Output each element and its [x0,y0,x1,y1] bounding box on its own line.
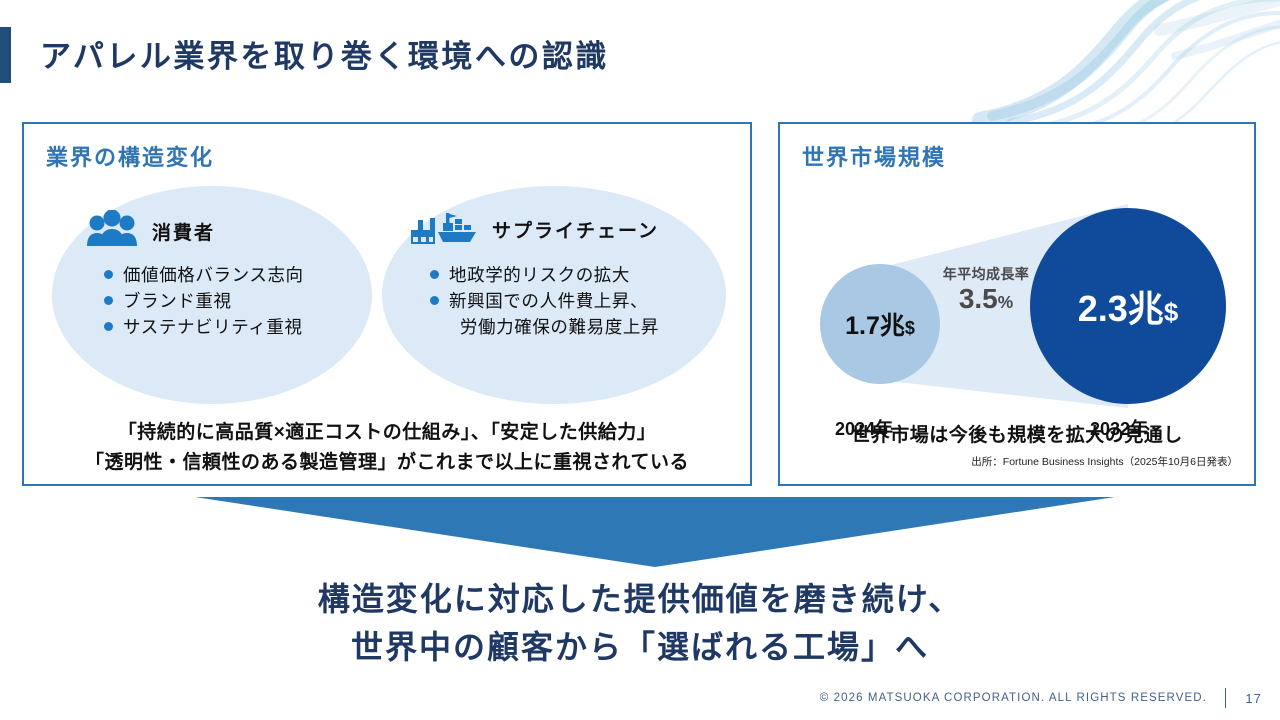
bullet-dot-icon [104,322,113,331]
group-consumer-bullets: 価値価格バランス志向 ブランド重視 サステナビリティ重視 [104,262,304,340]
panel-left-heading: 業界の構造変化 [46,140,214,172]
group-supply-chain: サプライチェーン 地政学的リスクの拡大 新興国での人件費上昇、 労働力確保の難易… [382,186,726,404]
bullet-dot-icon [104,270,113,279]
bullet-dot-icon [430,296,439,305]
page-number: 17 [1226,691,1262,706]
group-consumer: 消費者 価値価格バランス志向 ブランド重視 サステナビリティ重視 [52,186,372,404]
footer: © 2026 MATSUOKA CORPORATION. ALL RIGHTS … [820,688,1262,708]
down-arrow-shape [195,497,1115,567]
conclusion-message: 構造変化に対応した提供価値を磨き続け、 世界中の顧客から「選ばれる工場」へ [0,575,1280,671]
group-consumer-label: 消費者 [152,218,215,245]
cagr-value: 3.5% [938,283,1034,315]
bubble-2024-value: 1.7兆$ [845,306,915,342]
group-supply-chain-bullets: 地政学的リスクの拡大 新興国での人件費上昇、 労働力確保の難易度上昇 [430,262,659,340]
cagr-annotation: 年平均成長率 3.5% [938,264,1034,315]
panel-right-heading: 世界市場規模 [802,140,946,172]
list-item: 価値価格バランス志向 [104,262,304,288]
market-growth-chart: 1.7兆$ 年平均成長率 3.5% 2.3兆$ 2024年 2032年 [780,180,1254,420]
list-item: 新興国での人件費上昇、 労働力確保の難易度上昇 [430,288,659,340]
factory-ship-icon [410,210,480,248]
group-supply-chain-label: サプライチェーン [492,216,659,243]
panel-global-market-size: 世界市場規模 1.7兆$ 年平均成長率 3.5% 2.3兆$ 2024年 203… [778,122,1256,486]
list-item: ブランド重視 [104,288,304,314]
left-panel-summary: 「持続的に高品質×適正コストの仕組み」、「安定した供給力」 「透明性・信頼性のあ… [24,418,750,478]
bubble-2032-value: 2.3兆$ [1078,280,1178,332]
group-consumer-header: 消費者 [84,210,215,252]
copyright-text: © 2026 MATSUOKA CORPORATION. ALL RIGHTS … [820,692,1225,704]
cagr-label: 年平均成長率 [938,264,1034,284]
group-supply-chain-header: サプライチェーン [410,210,659,248]
right-panel-summary: 世界市場は今後も規模を拡大の見通し [780,420,1254,447]
bubble-2024: 1.7兆$ [820,264,940,384]
list-item: サステナビリティ重視 [104,314,304,340]
left-summary-line-2: 「透明性・信頼性のある製造管理」がこれまで以上に重視されている [24,448,750,478]
left-summary-line-1: 「持続的に高品質×適正コストの仕組み」、「安定した供給力」 [24,418,750,448]
title-accent-bar [0,27,11,83]
conclusion-line-2: 世界中の顧客から「選ばれる工場」へ [0,623,1280,671]
conclusion-line-1: 構造変化に対応した提供価値を磨き続け、 [0,575,1280,623]
slide-canvas: アパレル業界を取り巻く環境への認識 業界の構造変化 消費者 [0,0,1280,720]
bubble-2032: 2.3兆$ [1030,208,1226,404]
people-group-icon [84,210,140,252]
bullet-dot-icon [104,296,113,305]
list-item: 地政学的リスクの拡大 [430,262,659,288]
panel-structural-change: 業界の構造変化 消費者 [22,122,752,486]
bullet-dot-icon [430,270,439,279]
source-note: 出所：Fortune Business Insights（2025年10月6日発… [971,454,1238,469]
page-title: アパレル業界を取り巻く環境への認識 [40,31,609,76]
